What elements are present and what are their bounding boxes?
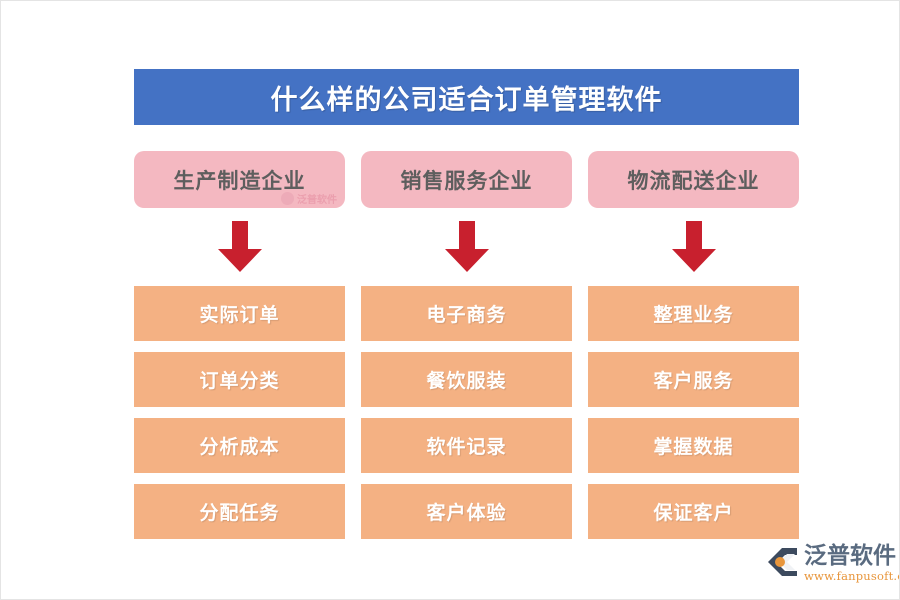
- logo-text-group: 泛普软件 www.fanpusoft.com: [804, 544, 900, 583]
- item-label: 分配任务: [199, 498, 279, 525]
- title-bar: 什么样的公司适合订单管理软件: [134, 69, 799, 125]
- column-production: 生产制造企业 泛普软件 实际订单 订单分类 分析成本 分配任务: [134, 151, 345, 550]
- column-header-box: 生产制造企业 泛普软件: [134, 151, 345, 208]
- item-box: 分配任务: [134, 484, 345, 539]
- column-header-box: 物流配送企业: [588, 151, 799, 208]
- item-label: 保证客户: [653, 498, 733, 525]
- column-logistics: 物流配送企业 整理业务 客户服务 掌握数据 保证客户: [588, 151, 799, 550]
- item-label: 餐饮服装: [426, 366, 506, 393]
- item-label: 订单分类: [199, 366, 279, 393]
- column-header-box: 销售服务企业: [361, 151, 572, 208]
- item-box: 客户服务: [588, 352, 799, 407]
- item-box: 实际订单: [134, 286, 345, 341]
- item-box: 电子商务: [361, 286, 572, 341]
- arrow-container: [588, 208, 799, 286]
- infographic-canvas: 什么样的公司适合订单管理软件 生产制造企业 泛普软件 实际订单 订单分类 分析成…: [0, 0, 900, 600]
- item-box: 客户体验: [361, 484, 572, 539]
- down-arrow-icon: [671, 221, 717, 273]
- item-label: 掌握数据: [653, 432, 733, 459]
- item-label: 实际订单: [199, 300, 279, 327]
- brand-logo: 泛普软件 www.fanpusoft.com: [766, 544, 900, 583]
- item-box: 掌握数据: [588, 418, 799, 473]
- item-box: 整理业务: [588, 286, 799, 341]
- arrow-container: [134, 208, 345, 286]
- column-sales-service: 销售服务企业 电子商务 餐饮服装 软件记录 客户体验: [361, 151, 572, 550]
- item-label: 分析成本: [199, 432, 279, 459]
- item-box: 分析成本: [134, 418, 345, 473]
- logo-brand-name: 泛普软件: [804, 544, 896, 568]
- item-box: 订单分类: [134, 352, 345, 407]
- item-box: 餐饮服装: [361, 352, 572, 407]
- item-label: 客户服务: [653, 366, 733, 393]
- item-box: 软件记录: [361, 418, 572, 473]
- column-header-label: 销售服务企业: [401, 165, 533, 195]
- arrow-container: [361, 208, 572, 286]
- item-label: 软件记录: [426, 432, 506, 459]
- down-arrow-icon: [444, 221, 490, 273]
- column-header-label: 物流配送企业: [628, 165, 760, 195]
- item-box: 保证客户: [588, 484, 799, 539]
- down-arrow-icon: [217, 221, 263, 273]
- column-header-label: 生产制造企业: [174, 165, 306, 195]
- item-label: 整理业务: [653, 300, 733, 327]
- fanpu-logo-icon: [766, 546, 800, 578]
- item-label: 电子商务: [426, 300, 506, 327]
- page-title: 什么样的公司适合订单管理软件: [271, 78, 663, 117]
- logo-url: www.fanpusoft.com: [804, 569, 900, 583]
- item-label: 客户体验: [426, 498, 506, 525]
